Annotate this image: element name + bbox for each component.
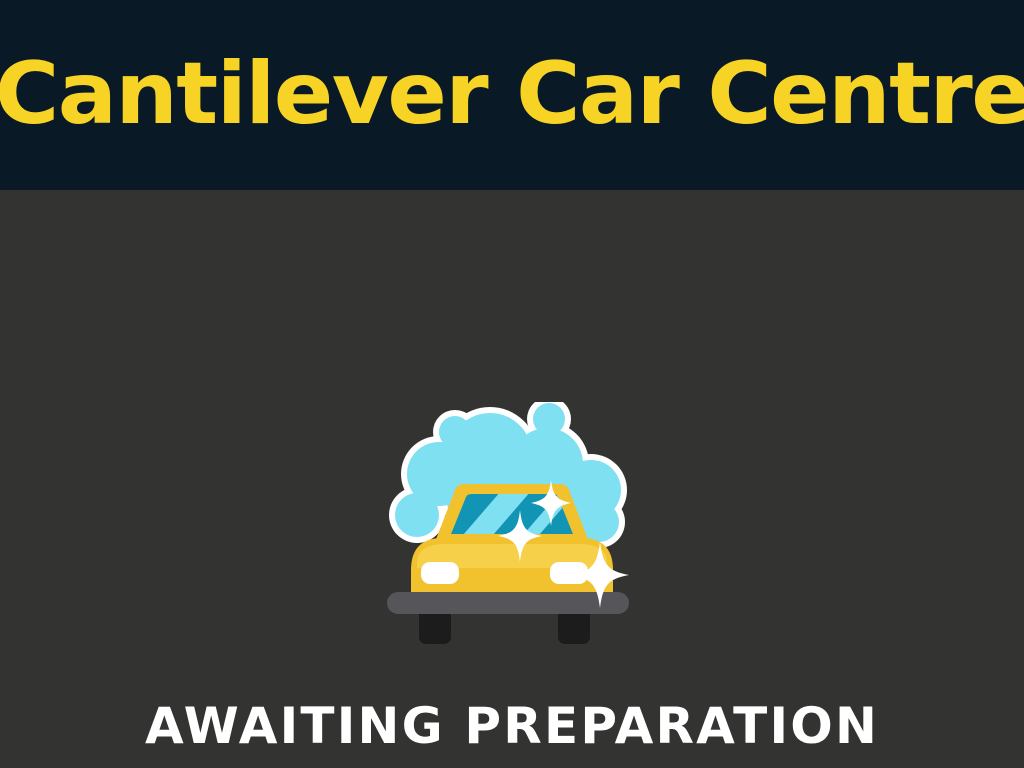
dealership-name: Cantilever Car Centre: [0, 51, 1024, 137]
headlight-left: [421, 562, 459, 584]
car-wash-icon: [377, 402, 647, 672]
bumper-bar: [387, 592, 629, 614]
vehicle-placeholder-card: Cantilever Car Centre: [0, 0, 1024, 768]
card-body: AWAITING PREPARATION 01925 411 911 david…: [0, 190, 1024, 768]
header-banner: Cantilever Car Centre: [0, 0, 1024, 190]
status-line: AWAITING PREPARATION: [0, 696, 1024, 756]
status-badge: AWAITING PREPARATION: [145, 696, 879, 756]
